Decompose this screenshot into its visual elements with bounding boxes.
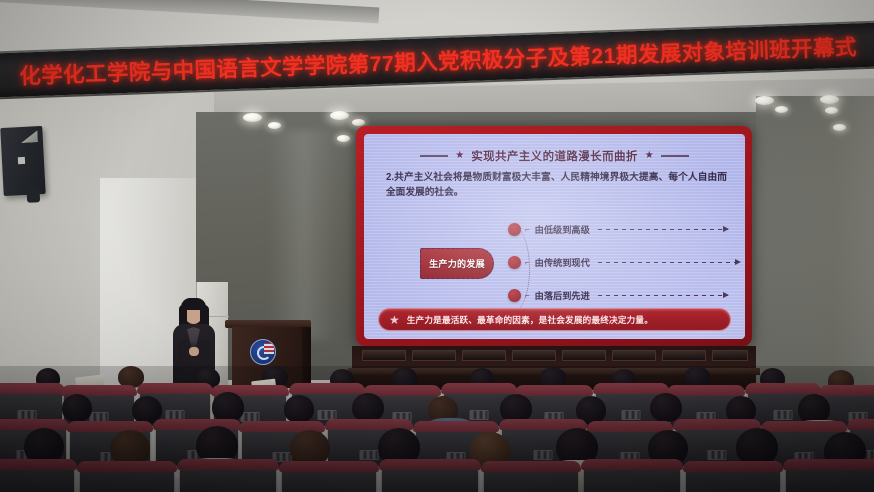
ceiling-downlight [268, 122, 281, 129]
ceiling-downlight [833, 124, 846, 131]
diagram-source-label: 生产力的发展 [429, 257, 485, 270]
dashed-arrow-icon [598, 295, 728, 296]
auditorium-seat [584, 462, 680, 492]
ceiling-downlight [820, 95, 839, 104]
auditorium-seat [0, 462, 74, 492]
dashed-arrow-icon [598, 229, 728, 230]
crest-stripes [264, 343, 274, 354]
ceiling-edge-trim [0, 0, 379, 23]
slide-title: 实现共产主义的道路漫长而曲折 [471, 148, 638, 164]
presentation-slide: ★ 实现共产主义的道路漫长而曲折 ★ 2.共产主义社会将是物质财富极大丰富、人民… [364, 134, 745, 339]
stage-vent [662, 350, 706, 361]
ceiling-downlight [352, 119, 365, 126]
diagram-branch-label: 由落后到先进 [535, 288, 590, 302]
audience-head [284, 395, 314, 423]
audience-head [212, 392, 244, 422]
ceiling-downlight [243, 113, 262, 122]
ceiling-downlight [755, 96, 774, 105]
presenter-hand [189, 347, 199, 356]
diagram-branch: ⌐ 由低级到高级 [508, 222, 728, 236]
auditorium-seat [180, 462, 276, 492]
stage-vent [712, 350, 748, 361]
ceiling-downlight [825, 107, 838, 114]
backdrop-light-sheen [268, 130, 338, 340]
auditorium-seat [282, 464, 376, 492]
title-rule-right [661, 155, 689, 157]
audience-area [0, 366, 874, 492]
auditorium-seat [484, 464, 578, 492]
stage-vent [612, 350, 656, 361]
audience-head [62, 394, 92, 422]
bullet-dot-icon [508, 289, 521, 302]
stage-vent [562, 350, 606, 361]
diagram-branch: ⌐ 由传统到现代 [508, 255, 740, 269]
lecture-hall-photo: 化学化工学院与中国语言文学学院第77期入党积极分子及第21期发展对象培训班开幕式… [0, 0, 874, 492]
auditorium-seat [786, 462, 874, 492]
diagram-branch-label: 由传统到现代 [535, 255, 590, 269]
audience-head [650, 393, 682, 422]
bullet-dot-icon [508, 223, 521, 236]
branch-tick-icon: ⌐ [525, 258, 530, 267]
branch-tick-icon: ⌐ [525, 225, 530, 234]
dashed-arrow-icon [598, 262, 740, 263]
ceiling-downlight [330, 111, 349, 120]
diagram-branch: ⌐ 由落后到先进 [508, 288, 728, 302]
slide-title-row: ★ 实现共产主义的道路漫长而曲折 ★ [364, 148, 745, 164]
slide-footer-text: 生产力是最活跃、最革命的因素，是社会发展的最终决定力量。 [407, 314, 653, 326]
star-icon: ★ [645, 151, 654, 161]
branch-tick-icon: ⌐ [525, 291, 530, 300]
bullet-dot-icon [508, 256, 521, 269]
diagram-source-node: 生产力的发展 [420, 248, 494, 279]
audience-head [352, 393, 384, 422]
auditorium-seat [382, 462, 478, 492]
slide-body-text: 2.共产主义社会将是物质财富极大丰富、人民精神境界极大提高、每个人自由而全面发展… [386, 170, 727, 200]
stage-vent [362, 350, 406, 361]
projection-screen: ★ 实现共产主义的道路漫长而曲折 ★ 2.共产主义社会将是物质财富极大丰富、人民… [356, 126, 752, 346]
speaker-badge-icon [18, 157, 25, 164]
auditorium-seat [80, 464, 174, 492]
stage-vent [462, 350, 506, 361]
stage-vent [512, 350, 556, 361]
auditorium-seat [686, 464, 780, 492]
wall-speaker [0, 126, 46, 196]
university-crest-icon [250, 339, 276, 365]
slide-diagram: 生产力的发展 ⌐ 由低级到高级 ⌐ 由传统到现代 ⌐ [364, 222, 745, 316]
diagram-branch-label: 由低级到高级 [535, 222, 590, 236]
title-rule-left [420, 155, 448, 157]
star-icon: ★ [389, 314, 400, 326]
ceiling-downlight [337, 135, 350, 142]
star-icon: ★ [455, 151, 464, 161]
stage-vent [412, 350, 456, 361]
slide-footer-banner: ★ 生产力是最活跃、最革命的因素，是社会发展的最终决定力量。 [378, 308, 731, 331]
ceiling-downlight [775, 106, 788, 113]
speaker-mount-bracket [26, 188, 40, 203]
